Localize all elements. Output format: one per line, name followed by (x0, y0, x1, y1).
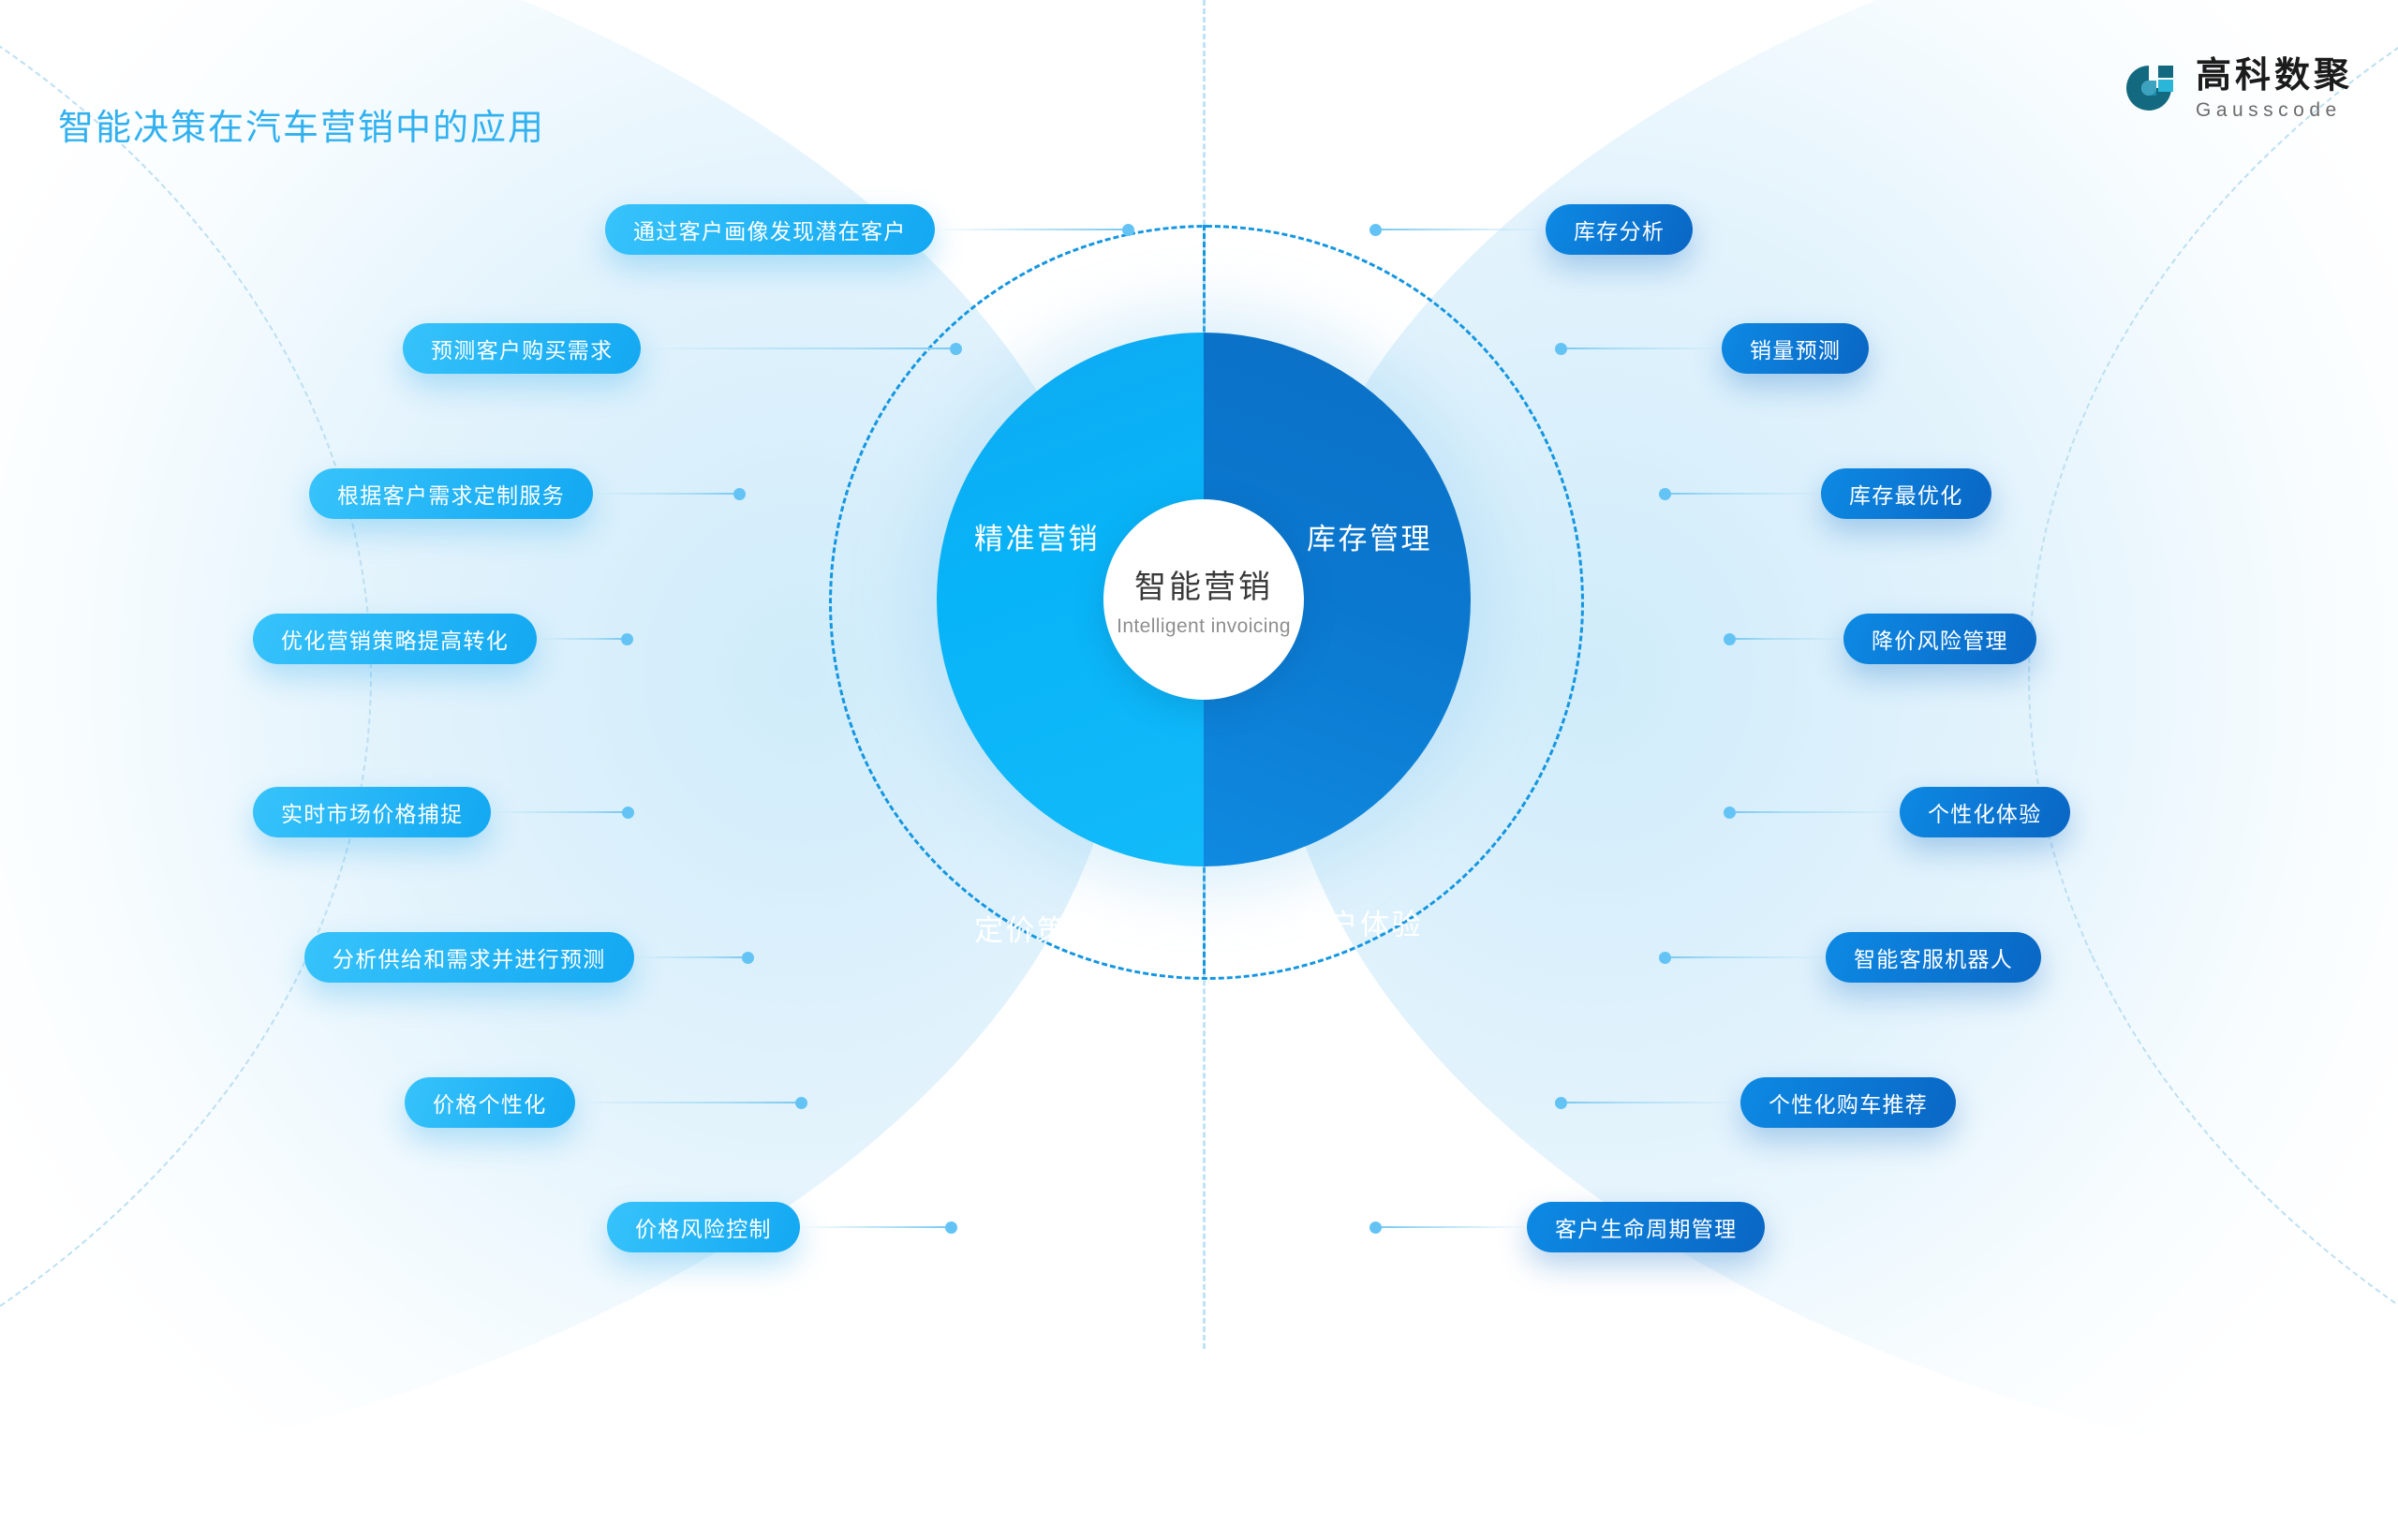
node-left-2[interactable]: 预测客户购买需求 (403, 323, 962, 374)
node-label[interactable]: 价格风险控制 (607, 1202, 800, 1252)
quadrant-label-top-left: 精准营销 (974, 515, 1100, 557)
slide-canvas: 智能决策在汽车营销中的应用 高科数聚 Gausscode 精准营销 库存管理 定… (0, 0, 2398, 1349)
connector-line (1382, 229, 1546, 230)
node-left-1[interactable]: 通过客户画像发现潜在客户 (605, 204, 1134, 255)
connector-dot (1724, 807, 1736, 819)
node-right-2[interactable]: 销量预测 (1555, 323, 1869, 374)
connector-dot (1369, 224, 1382, 236)
connector-line (537, 638, 621, 640)
connector-line (1671, 956, 1826, 958)
quadrant-label-bottom-left: 定价策略 (974, 907, 1100, 949)
connector-dot (1122, 224, 1134, 236)
connector-line (1736, 811, 1900, 813)
center-hub: 智能营销 Intelligent invoicing (1103, 499, 1304, 700)
node-label[interactable]: 优化营销策略提高转化 (253, 614, 537, 664)
connector-dot (733, 488, 746, 500)
connector-line (935, 229, 1122, 230)
node-label[interactable]: 库存分析 (1546, 204, 1693, 255)
center-title-en: Intelligent invoicing (1117, 615, 1291, 638)
quadrant-label-bottom-right: 客户体验 (1297, 901, 1423, 943)
connector-dot (945, 1222, 957, 1234)
connector-dot (622, 807, 634, 819)
connector-dot (1555, 343, 1567, 355)
node-right-3[interactable]: 库存最优化 (1659, 468, 1991, 519)
connector-dot (795, 1097, 807, 1109)
connector-line (1567, 1102, 1740, 1103)
connector-dot (742, 952, 754, 964)
node-label[interactable]: 库存最优化 (1821, 468, 1991, 519)
connector-line (1382, 1226, 1527, 1228)
node-right-4[interactable]: 降价风险管理 (1724, 614, 2036, 664)
connector-line (634, 956, 742, 958)
node-right-6[interactable]: 智能客服机器人 (1659, 932, 2041, 983)
connector-line (491, 811, 622, 813)
connector-dot (950, 343, 962, 355)
connector-line (641, 348, 950, 349)
marketing-wheel-diagram: 精准营销 库存管理 定价策略 客户体验 智能营销 Intelligent inv… (0, 0, 2398, 1349)
node-right-7[interactable]: 个性化购车推荐 (1555, 1077, 1956, 1128)
node-label[interactable]: 客户生命周期管理 (1527, 1202, 1765, 1252)
node-label[interactable]: 个性化购车推荐 (1740, 1077, 1956, 1128)
connector-line (1736, 638, 1843, 640)
node-label[interactable]: 根据客户需求定制服务 (309, 468, 593, 519)
node-label[interactable]: 价格个性化 (405, 1077, 575, 1128)
connector-dot (621, 633, 633, 645)
connector-line (593, 493, 733, 495)
node-left-6[interactable]: 分析供给和需求并进行预测 (304, 932, 754, 983)
node-label[interactable]: 智能客服机器人 (1826, 932, 2041, 983)
node-label[interactable]: 实时市场价格捕捉 (253, 787, 491, 837)
connector-line (1671, 493, 1821, 495)
connector-line (800, 1226, 945, 1228)
node-label[interactable]: 分析供给和需求并进行预测 (304, 932, 634, 983)
node-left-7[interactable]: 价格个性化 (405, 1077, 807, 1128)
node-right-5[interactable]: 个性化体验 (1724, 787, 2070, 837)
node-left-8[interactable]: 价格风险控制 (607, 1202, 957, 1252)
connector-dot (1555, 1097, 1567, 1109)
node-right-8[interactable]: 客户生命周期管理 (1369, 1202, 1765, 1252)
node-right-1[interactable]: 库存分析 (1369, 204, 1693, 255)
connector-dot (1724, 633, 1736, 645)
node-label[interactable]: 降价风险管理 (1843, 614, 2036, 664)
node-label[interactable]: 预测客户购买需求 (403, 323, 641, 374)
node-left-5[interactable]: 实时市场价格捕捉 (253, 787, 634, 837)
center-title-cn: 智能营销 (1134, 561, 1273, 607)
connector-dot (1369, 1222, 1382, 1234)
node-label[interactable]: 通过客户画像发现潜在客户 (605, 204, 935, 255)
node-left-3[interactable]: 根据客户需求定制服务 (309, 468, 746, 519)
connector-dot (1659, 488, 1671, 500)
node-label[interactable]: 个性化体验 (1900, 787, 2070, 837)
quadrant-label-top-right: 库存管理 (1307, 515, 1432, 557)
connector-dot (1659, 952, 1671, 964)
node-left-4[interactable]: 优化营销策略提高转化 (253, 614, 633, 664)
connector-line (1567, 348, 1722, 349)
connector-line (575, 1102, 795, 1103)
node-label[interactable]: 销量预测 (1722, 323, 1869, 374)
